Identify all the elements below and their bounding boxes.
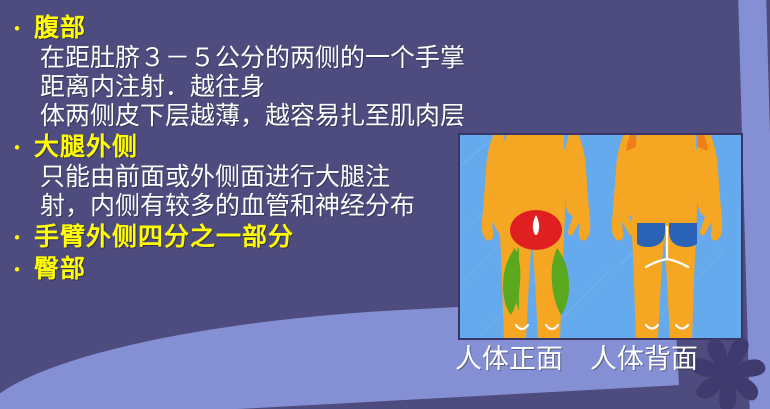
- bullet-marker-icon: •: [0, 223, 34, 253]
- bullet-heading: 手臂外侧四分之一部分: [34, 223, 294, 253]
- bullet-detail-line: 射，内侧有较多的血管和神经分布: [40, 192, 470, 221]
- figure-caption: 人体正面 人体背面: [455, 343, 755, 375]
- bullet-marker-icon: •: [0, 255, 34, 285]
- body-figure-svg: [460, 135, 741, 338]
- bullet-detail-line: 体两侧皮下层越薄，越容易扎至肌肉层: [40, 102, 470, 131]
- abdomen-site: [510, 210, 562, 250]
- bullet-heading: 臀部: [34, 255, 86, 285]
- bullet-marker-icon: •: [0, 14, 34, 44]
- bullet-heading: 大腿外侧: [34, 133, 138, 163]
- slide: • 腹部 在距肚脐３－５公分的两侧的一个手掌距离内注射．越往身 体两侧皮下层越薄…: [0, 0, 770, 409]
- bullet-list: • 腹部 在距肚脐３－５公分的两侧的一个手掌距离内注射．越往身 体两侧皮下层越薄…: [0, 0, 470, 285]
- list-item: • 臀部: [0, 255, 470, 285]
- bullet-detail-line: 只能由前面或外侧面进行大腿注: [40, 163, 470, 192]
- human-body-injection-sites-illustration: [458, 133, 743, 340]
- bullet-heading: 腹部: [34, 14, 86, 44]
- list-item: • 大腿外侧: [0, 133, 470, 163]
- list-item: • 手臂外侧四分之一部分: [0, 223, 470, 253]
- bullet-detail-line: 在距肚脐３－５公分的两侧的一个手掌距离内注射．越往身: [40, 44, 470, 102]
- bullet-marker-icon: •: [0, 133, 34, 163]
- list-item: • 腹部: [0, 14, 470, 44]
